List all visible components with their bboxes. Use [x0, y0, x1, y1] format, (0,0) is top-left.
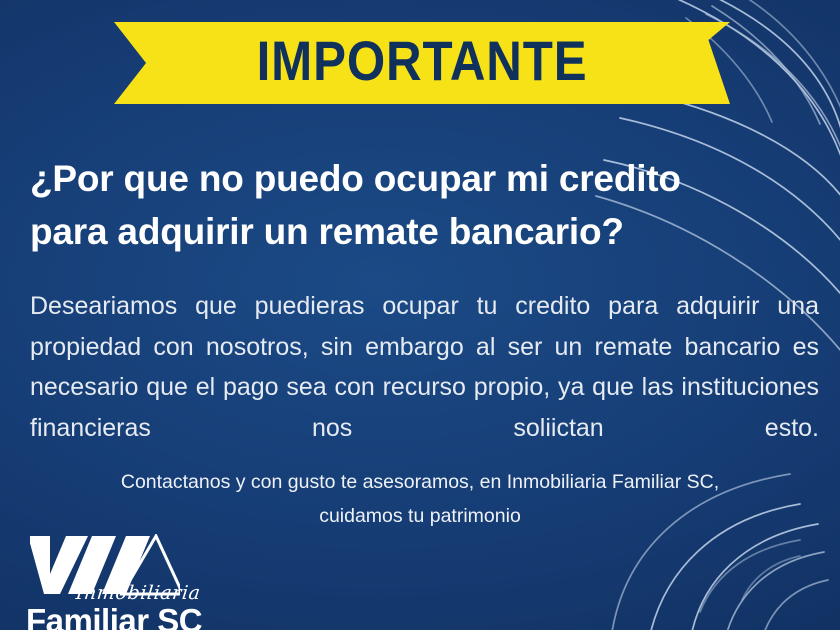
contact-line-2: cuidamos tu patrimonio	[30, 500, 810, 534]
importante-banner: IMPORTANTE	[114, 22, 730, 104]
body-paragraph: Deseariamos que puedieras ocupar tu cred…	[30, 286, 819, 489]
brand-logo: Inmobiliaria Familiar SC	[26, 534, 206, 630]
banner-title: IMPORTANTE	[114, 34, 730, 90]
banner-title-text: IMPORTANTE	[257, 33, 588, 89]
contact-block: Contactanos y con gusto te asesoramos, e…	[30, 466, 810, 533]
headline-line-1: ¿Por que no puedo ocupar mi credito	[30, 153, 730, 206]
logo-script-text: Inmobiliaria	[75, 582, 202, 604]
page-title: ¿Por que no puedo ocupar mi credito para…	[30, 153, 730, 258]
contact-line-1: Contactanos y con gusto te asesoramos, e…	[30, 466, 810, 500]
poster-canvas: IMPORTANTE ¿Por que no puedo ocupar mi c…	[0, 0, 840, 630]
logo-name-text: Familiar SC	[26, 602, 202, 630]
headline-line-2: para adquirir un remate bancario?	[30, 206, 730, 259]
